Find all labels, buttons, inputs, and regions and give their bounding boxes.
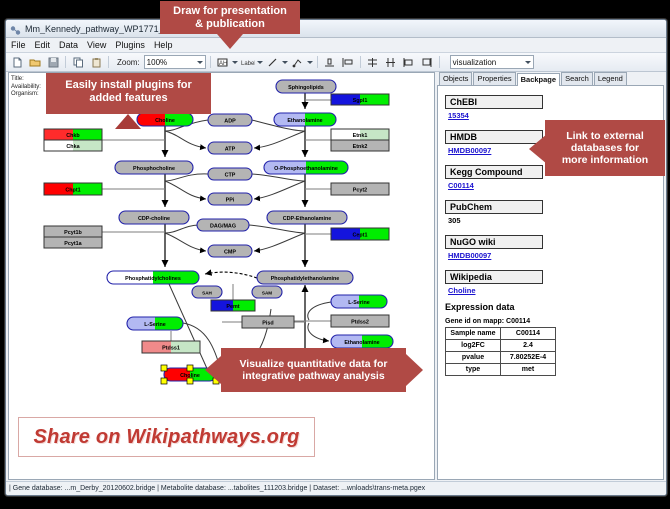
section-wikipedia: Wikipedia Choline [445, 267, 656, 295]
node-label: CMP [224, 250, 236, 256]
chebi-heading: ChEBI [445, 95, 543, 109]
wikipedia-link[interactable]: Choline [448, 286, 656, 295]
callout-visualize-arrow-left [205, 356, 221, 384]
node-label: Choline [155, 118, 175, 124]
node-label: PPi [226, 198, 235, 204]
table-row: Sample name C00114 [446, 328, 556, 340]
node-label: ATP [225, 147, 236, 153]
node-label: Cept1 [353, 233, 368, 239]
gene-node[interactable]: Pemt [211, 300, 255, 311]
nugo-heading: NuGO wiki [445, 235, 543, 249]
row-value: C00114 [501, 328, 556, 340]
node-label: Phosphocholine [133, 166, 175, 172]
tab-legend[interactable]: Legend [594, 72, 627, 85]
metabolite-node[interactable]: ATP [208, 142, 252, 154]
metabolite-node[interactable]: SAM [252, 286, 282, 298]
node-label: Chkb [66, 133, 80, 139]
kegg-heading: Kegg Compound [445, 165, 543, 179]
callout-draw-arrow [217, 34, 243, 49]
table-row: pvalue 7.80252E-4 [446, 352, 556, 364]
node-label: CTP [225, 173, 236, 179]
menu-file[interactable]: File [10, 40, 27, 50]
node-label: Pcyt1b [64, 230, 82, 236]
metabolite-node[interactable]: Ethanolamine [331, 335, 393, 348]
label-dropdown[interactable]: Label [240, 54, 263, 70]
row-value: met [501, 364, 556, 376]
gene-node[interactable]: Etnk2 [331, 140, 389, 151]
zoom-combobox[interactable]: 100% [144, 55, 206, 69]
node-label: SAH [202, 291, 212, 296]
gene-node[interactable]: Ptdss2 [331, 315, 389, 327]
gene-node[interactable]: Sgpl1 [331, 94, 389, 105]
row-label: log2FC [446, 340, 501, 352]
node-label: ADP [224, 119, 236, 125]
callout-link-arrow [529, 134, 547, 164]
menu-view[interactable]: View [86, 40, 107, 50]
gene-node[interactable]: Pisd [242, 316, 294, 328]
node-label: Pisd [262, 321, 273, 327]
pubchem-heading: PubChem [445, 200, 543, 214]
zoom-label: Zoom: [117, 58, 140, 67]
chevron-down-icon [232, 61, 238, 64]
size-width-icon[interactable] [401, 54, 417, 70]
gene-node[interactable]: Etnk1 [331, 129, 389, 140]
metabolite-node[interactable]: Phosphocholine [115, 161, 193, 174]
callout-link-text: Link to external databases for more info… [562, 130, 648, 166]
align-top-icon[interactable] [322, 54, 338, 70]
table-row: type met [446, 364, 556, 376]
metabolite-node[interactable]: ADP [208, 114, 252, 126]
pubchem-value: 305 [448, 216, 656, 225]
label-icon[interactable]: Label [240, 54, 256, 70]
app-icon [10, 23, 21, 34]
gene-node[interactable]: Chpt1 [44, 183, 102, 195]
size-height-icon[interactable] [419, 54, 435, 70]
metabolite-node[interactable]: O-Phosphoethanolamine [264, 161, 348, 174]
metabolite-node[interactable]: L-Serine [127, 317, 183, 330]
element-dropdown[interactable]: AH [215, 54, 238, 70]
gene-node[interactable]: Chka [44, 140, 102, 151]
node-label: Phosphatidylethanolamine [271, 276, 340, 282]
interaction-dropdown[interactable] [290, 54, 313, 70]
visualization-value: visualization [453, 58, 497, 67]
gene-id-line: Gene id on mapp: C00114 [445, 318, 656, 325]
node-label: Chpt1 [65, 188, 80, 194]
node-label: Ptdss2 [351, 320, 369, 326]
menu-help[interactable]: Help [153, 40, 174, 50]
gene-node[interactable]: Ptdss1 [142, 341, 200, 353]
line-dropdown[interactable] [265, 54, 288, 70]
share-callout-text: Share on Wikipathways.org [34, 426, 300, 449]
node-label: Sgpl1 [353, 98, 368, 104]
chevron-down-icon [307, 61, 313, 64]
expression-data-title: Expression data [445, 302, 656, 312]
node-label: Ethanolamine [344, 340, 379, 346]
node-label: Etnk1 [353, 133, 368, 139]
metabolite-node[interactable]: DAG/MAG [197, 219, 249, 231]
callout-visualize: Visualize quantitative data for integrat… [221, 348, 406, 392]
metabolite-node[interactable]: PPi [208, 193, 252, 205]
line-icon[interactable] [265, 54, 281, 70]
toolbar-separator-2 [108, 56, 109, 68]
metabolite-node[interactable]: Choline [137, 113, 193, 126]
toolbar-separator-6 [439, 56, 440, 68]
section-chebi: ChEBI 15354 [445, 92, 656, 120]
kegg-link[interactable]: C00114 [448, 181, 656, 190]
nugo-link[interactable]: HMDB00097 [448, 251, 656, 260]
open-icon[interactable] [27, 54, 43, 70]
callout-draw-text: Draw for presentation & publication [173, 5, 287, 30]
section-pubchem: PubChem 305 [445, 197, 656, 225]
node-label: Ptdss1 [162, 346, 180, 352]
menu-data[interactable]: Data [58, 40, 79, 50]
svg-text:Label: Label [241, 61, 255, 67]
screenshot-root: Mm_Kennedy_pathway_WP1771_45176.gpml Fil… [0, 0, 670, 509]
chevron-down-icon [525, 61, 531, 64]
node-label: CDP-Ethanolamine [283, 216, 332, 222]
chevron-down-icon [257, 61, 263, 64]
menu-edit[interactable]: Edit [34, 40, 52, 50]
node-label: L-Serine [144, 322, 166, 328]
toolbar-separator-1 [65, 56, 66, 68]
metabolite-node[interactable]: Ethanolamine [274, 113, 336, 126]
row-label: pvalue [446, 352, 501, 364]
toolbar-separator-3 [210, 56, 211, 68]
table-row: log2FC 2.4 [446, 340, 556, 352]
metabolite-node[interactable]: SAH [192, 286, 222, 298]
expression-table: Sample name C00114 log2FC 2.4 pvalue 7.8… [445, 327, 556, 376]
metabolite-node[interactable]: Sphingolipids [276, 80, 336, 93]
toolbar-separator-4 [317, 56, 318, 68]
metabolite-node[interactable]: CMP [208, 245, 252, 257]
metabolite-node[interactable]: Phosphatidylethanolamine [257, 271, 353, 284]
row-label: Sample name [446, 328, 501, 340]
selection-handle[interactable] [187, 365, 193, 371]
copy-icon[interactable] [70, 54, 86, 70]
node-label: Pemt [226, 304, 239, 310]
menu-plugins[interactable]: Plugins [114, 40, 146, 50]
new-icon[interactable] [9, 54, 25, 70]
node-label: Phosphatidylcholines [125, 276, 181, 282]
metabolite-node[interactable]: CDP-choline [119, 211, 189, 224]
visualization-combobox[interactable]: visualization [450, 55, 534, 69]
chevron-down-icon [197, 61, 203, 64]
gene-node[interactable]: Pcyt2 [331, 183, 389, 195]
node-label: Pcyt1a [64, 241, 82, 247]
node-label: O-Phosphoethanolamine [274, 166, 338, 172]
callout-visualize-text: Visualize quantitative data for integrat… [239, 358, 387, 382]
chebi-link[interactable]: 15354 [448, 111, 656, 120]
share-callout: Share on Wikipathways.org [18, 417, 315, 457]
selection-handle[interactable] [187, 378, 193, 384]
callout-plugins-text: Easily install plugins for added feature… [65, 79, 192, 104]
row-value: 7.80252E-4 [501, 352, 556, 364]
tab-properties[interactable]: Properties [473, 72, 515, 85]
node-label: DAG/MAG [210, 224, 236, 230]
row-label: type [446, 364, 501, 376]
gene-node[interactable]: Pcyt1b [44, 226, 102, 237]
zoom-value: 100% [147, 58, 167, 67]
side-panel-tabs: Objects Properties Backpage Search Legen… [437, 72, 664, 86]
distribute-horizontal-icon[interactable] [383, 54, 399, 70]
align-left-icon[interactable] [340, 54, 356, 70]
toolbar-separator-5 [360, 56, 361, 68]
node-label: L-Serine [348, 300, 370, 306]
callout-link: Link to external databases for more info… [545, 120, 665, 176]
element-icon[interactable]: AH [215, 54, 231, 70]
callout-plugins-arrow [115, 114, 141, 129]
status-text: | Gene database: ...m_Derby_20120602.bri… [9, 485, 425, 492]
distribute-vertical-icon[interactable] [365, 54, 381, 70]
tab-backpage[interactable]: Backpage [517, 73, 560, 86]
interaction-icon[interactable] [290, 54, 306, 70]
node-label: Ethanolamine [287, 118, 322, 124]
metabolite-node[interactable]: CDP-Ethanolamine [267, 211, 347, 224]
selection-handle[interactable] [161, 365, 167, 371]
selection-handle[interactable] [161, 378, 167, 384]
row-value: 2.4 [501, 340, 556, 352]
callout-draw: Draw for presentation & publication [160, 1, 300, 34]
paste-icon[interactable] [88, 54, 104, 70]
gene-node[interactable]: Cept1 [331, 228, 389, 240]
section-nugo: NuGO wiki HMDB00097 [445, 232, 656, 260]
tab-objects[interactable]: Objects [439, 72, 472, 85]
node-label: SAM [262, 291, 272, 296]
callout-visualize-arrow-right [406, 354, 423, 386]
menubar: File Edit Data View Plugins Help [6, 38, 666, 53]
metabolite-node[interactable]: CTP [208, 168, 252, 180]
metabolite-node[interactable]: L-Serine [331, 295, 387, 308]
window-titlebar: Mm_Kennedy_pathway_WP1771_45176.gpml [6, 20, 666, 38]
gene-node[interactable]: Chkb [44, 129, 102, 140]
chevron-down-icon [282, 61, 288, 64]
statusbar: | Gene database: ...m_Derby_20120602.bri… [6, 481, 666, 495]
save-icon[interactable] [45, 54, 61, 70]
callout-plugins: Easily install plugins for added feature… [46, 72, 211, 114]
tab-search[interactable]: Search [561, 72, 593, 85]
wikipedia-heading: Wikipedia [445, 270, 543, 284]
metabolite-node[interactable]: Phosphatidylcholines [107, 271, 199, 284]
node-label: Chka [66, 144, 80, 150]
node-label: Pcyt2 [353, 188, 367, 194]
svg-text:AH: AH [219, 61, 227, 67]
gene-node[interactable]: Pcyt1a [44, 237, 102, 248]
node-label: CDP-choline [138, 216, 170, 222]
node-label: Sphingolipids [288, 85, 324, 91]
node-label: Etnk2 [353, 144, 368, 150]
